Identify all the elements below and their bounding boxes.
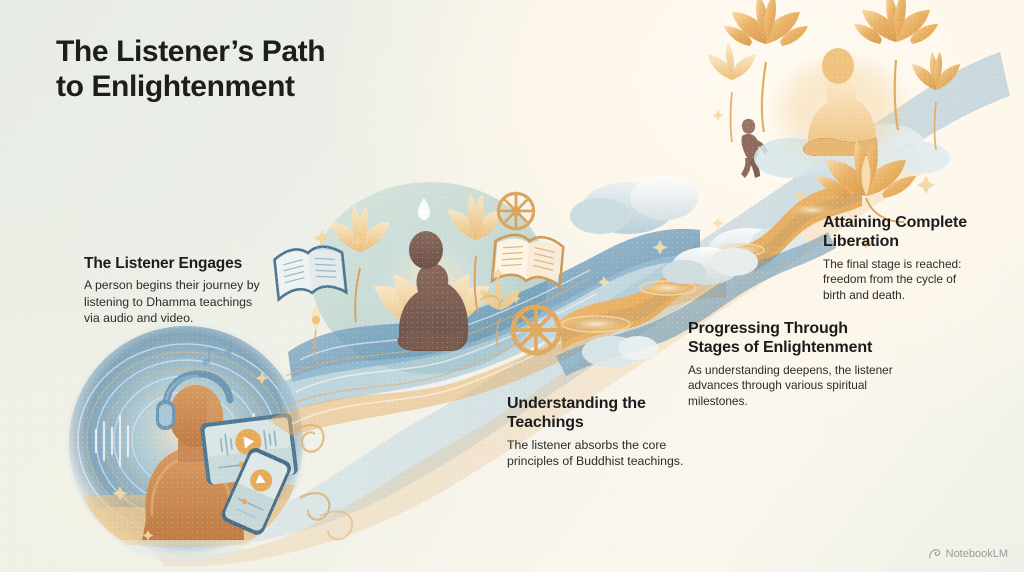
- step-heading: The Listener Engages: [84, 255, 334, 273]
- step-heading: Attaining Complete Liberation: [823, 214, 1013, 252]
- notebooklm-watermark: NotebookLM: [928, 547, 1008, 560]
- page-title: The Listener’s Path to Enlightenment: [56, 34, 325, 104]
- step-block-progressing-stages: Progressing Through Stages of Enlightenm…: [688, 320, 923, 409]
- dharma-wheel-icon: [498, 193, 533, 228]
- page-title-text: The Listener’s Path to Enlightenment: [56, 34, 325, 104]
- notebooklm-label: NotebookLM: [946, 548, 1008, 560]
- cloud: [570, 176, 698, 234]
- step-block-listener-engages: The Listener Engages A person begins the…: [84, 255, 334, 326]
- step-body: The final stage is reached: freedom from…: [823, 257, 1013, 304]
- infographic-canvas: The Listener’s Path to Enlightenment The…: [0, 0, 1024, 572]
- step-body: As understanding deepens, the listener a…: [688, 363, 923, 410]
- notebooklm-spiral-icon: [928, 547, 941, 560]
- step-body: The listener absorbs the core principles…: [507, 437, 747, 469]
- step-body: A person begins their journey by listeni…: [84, 277, 334, 326]
- cloud: [582, 336, 658, 368]
- step-heading: Progressing Through Stages of Enlightenm…: [688, 320, 923, 358]
- step-block-attaining-liberation: Attaining Complete Liberation The final …: [823, 214, 1013, 303]
- dharma-wheel-icon: [513, 307, 559, 353]
